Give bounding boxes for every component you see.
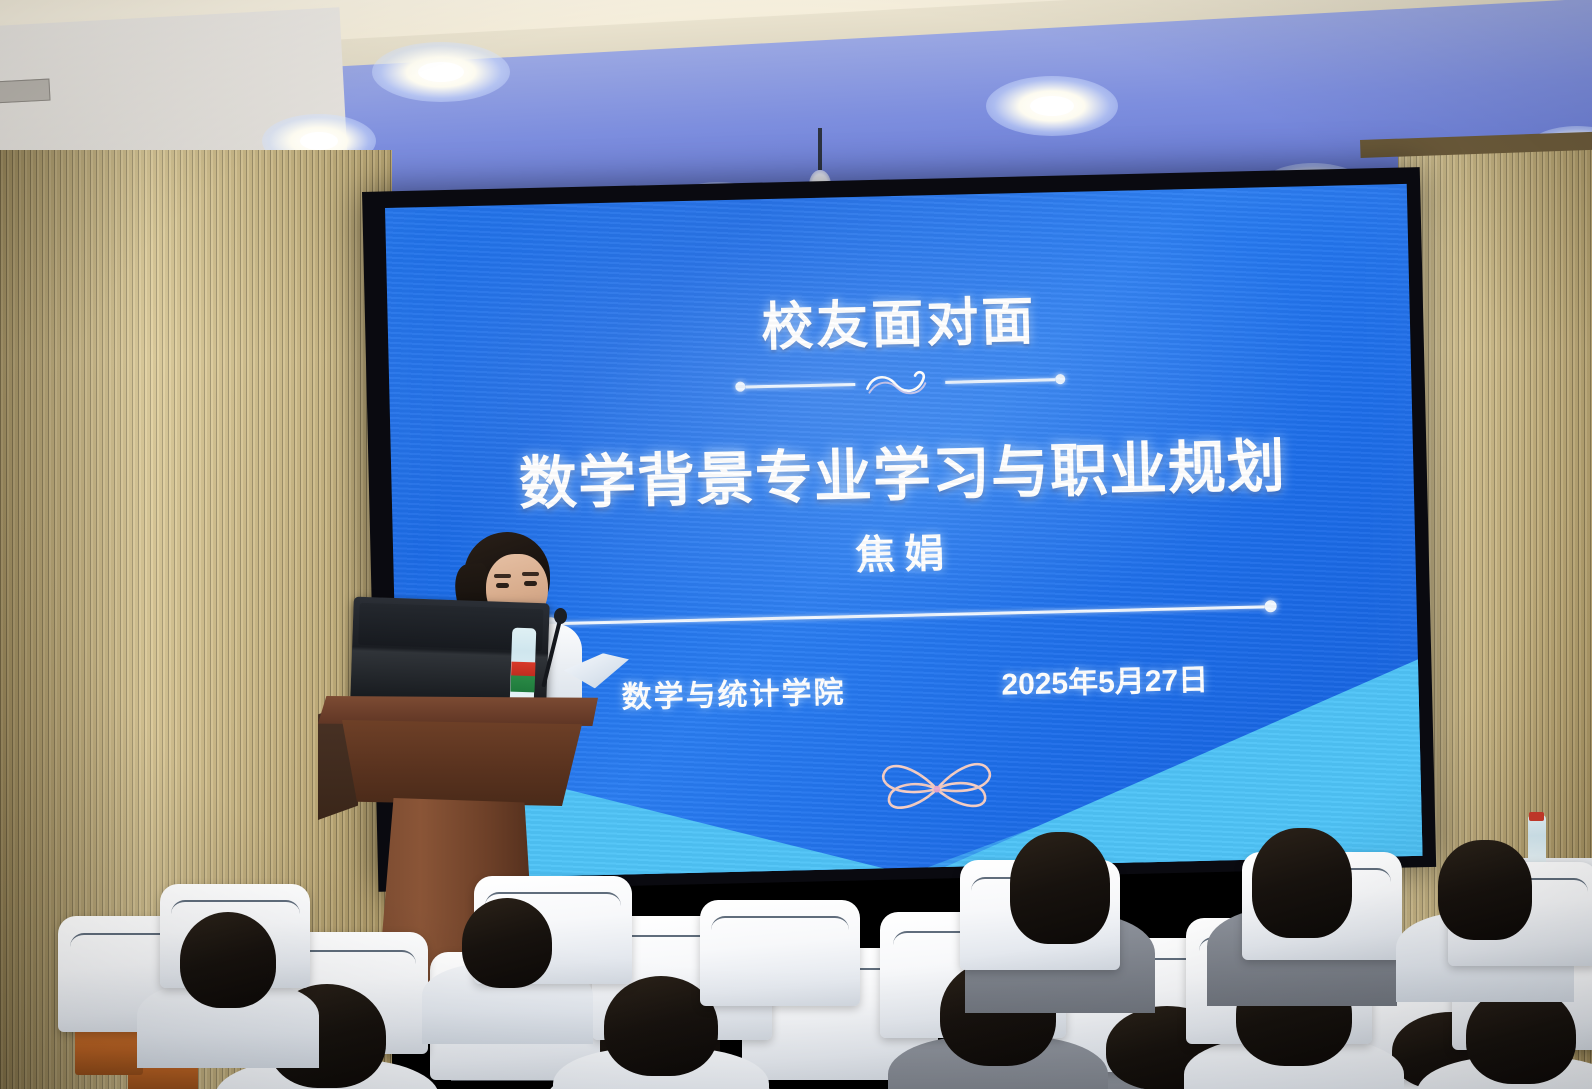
presenter-brow-left	[494, 574, 511, 578]
presenter-brow-right	[522, 572, 539, 576]
slide-date-text: 2025年5月27日	[1001, 655, 1209, 704]
ribbon-bow-icon	[866, 734, 1008, 829]
divider-line-left	[745, 382, 855, 388]
slide-horizontal-rule	[545, 599, 1277, 630]
slide-kicker-text: 校友面对面	[387, 270, 1410, 369]
pendant-rod	[818, 128, 822, 170]
divider-dot-left	[735, 382, 745, 392]
audience-seat[interactable]	[700, 900, 860, 1006]
downlight-core	[418, 62, 464, 82]
slide-title-text: 数学背景专业学习与职业规划	[390, 416, 1414, 524]
divider-line-right	[945, 378, 1055, 384]
rule-dot-right	[1264, 600, 1276, 612]
downlight-core	[300, 132, 338, 150]
wave-flourish-icon	[863, 365, 938, 401]
divider-dot-right	[1055, 374, 1065, 384]
downlight-core	[1030, 96, 1074, 116]
audience-member-head	[1252, 828, 1352, 938]
audience-member-head	[1010, 832, 1110, 944]
air-vent-icon	[0, 79, 51, 104]
water-bottle-label	[510, 662, 535, 693]
audience-member-head	[180, 912, 276, 1008]
presenter-eye-right	[524, 581, 537, 586]
microphone-icon	[554, 608, 567, 624]
slide-organization-text: 数学与统计学院	[621, 667, 846, 716]
side-water-bottle-icon	[1528, 815, 1546, 867]
podium-body	[332, 720, 582, 806]
lecture-hall-scene: 校友面对面 数学背景专业学习与职业规划 焦娟 数学与统计学院 2025年5月27…	[0, 0, 1592, 1089]
audience-member-head	[1438, 840, 1532, 940]
side-water-bottle-cap	[1529, 812, 1544, 821]
rule-line	[557, 605, 1265, 625]
presenter-eye-left	[496, 583, 509, 588]
audience-member-head	[462, 898, 552, 988]
